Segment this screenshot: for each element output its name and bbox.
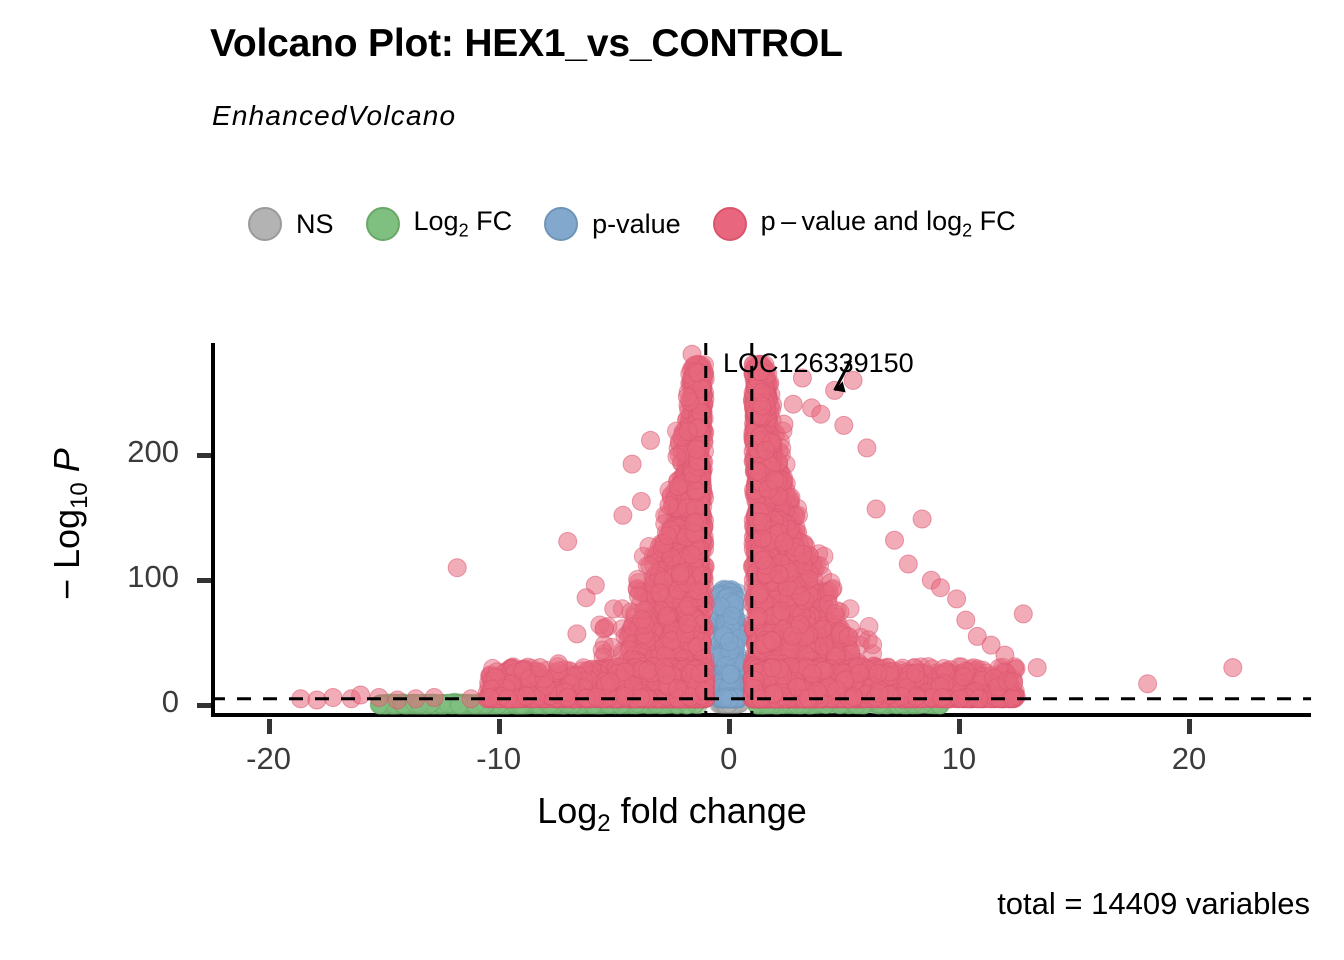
plot-subtitle: EnhancedVolcano	[212, 100, 456, 132]
legend-label-both: p – value and log2 FC	[761, 206, 1016, 241]
legend-label-pvalue: p-value	[592, 209, 681, 240]
y-axis-tick	[197, 578, 211, 583]
legend-item-both[interactable]: p – value and log2 FC	[713, 206, 1048, 241]
chart-legend: NS Log2 FC p-value p – value and log2 FC	[248, 200, 1048, 248]
x-axis-tick-label: -20	[209, 741, 329, 777]
legend-marker-ns	[248, 207, 282, 241]
x-axis-tick-label: 20	[1129, 741, 1249, 777]
x-axis-title: Log2 fold change	[0, 790, 1344, 838]
legend-marker-log2fc	[366, 207, 400, 241]
x-axis-tick-label: 10	[899, 741, 1019, 777]
plot-area	[211, 343, 1311, 715]
gene-annotation-label: LOC126339150	[723, 348, 914, 379]
legend-label-ns: NS	[296, 209, 334, 240]
legend-item-pvalue[interactable]: p-value	[544, 207, 713, 241]
y-axis-tick	[197, 453, 211, 458]
volcano-plot-figure: Volcano Plot: HEX1_vs_CONTROL EnhancedVo…	[0, 0, 1344, 960]
page-title: Volcano Plot: HEX1_vs_CONTROL	[210, 22, 843, 66]
x-axis-tick	[497, 719, 502, 734]
legend-marker-pvalue	[544, 207, 578, 241]
legend-marker-both	[713, 207, 747, 241]
y-axis-tick	[197, 703, 211, 708]
x-axis-tick-label: -10	[439, 741, 559, 777]
x-axis-tick	[267, 719, 272, 734]
legend-item-log2fc[interactable]: Log2 FC	[366, 206, 545, 241]
x-axis-tick	[1187, 719, 1192, 734]
x-axis-tick	[957, 719, 962, 734]
legend-item-ns[interactable]: NS	[248, 207, 366, 241]
y-axis-title: − Log10 P	[46, 374, 94, 674]
legend-label-log2fc: Log2 FC	[414, 206, 513, 241]
y-axis-tick-label: 0	[59, 684, 179, 720]
scatter-points-layer	[211, 343, 1311, 715]
total-variables-note: total = 14409 variables	[997, 886, 1310, 922]
x-axis-tick-label: 0	[669, 741, 789, 777]
x-axis-tick	[727, 719, 732, 734]
